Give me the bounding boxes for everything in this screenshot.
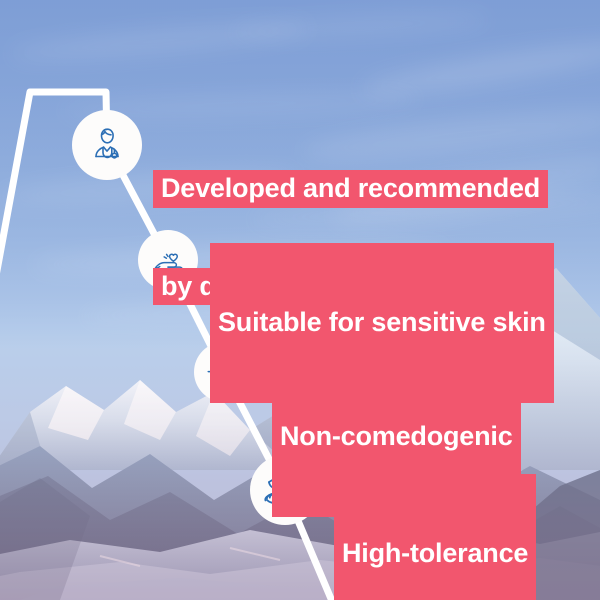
feature-label-high-tolerance: High-tolerance [334, 474, 536, 600]
feature-label-line: Suitable for sensitive skin [218, 307, 546, 337]
product-feature-infographic: Developed and recommended by dermatologi… [0, 0, 600, 600]
doctor-stethoscope-icon [83, 121, 131, 169]
feature-node-dermatologists[interactable] [72, 110, 142, 180]
feature-label-line: Non-comedogenic [280, 421, 513, 451]
feature-label-line: High-tolerance [342, 538, 528, 568]
feature-label-line: Developed and recommended [153, 170, 548, 207]
